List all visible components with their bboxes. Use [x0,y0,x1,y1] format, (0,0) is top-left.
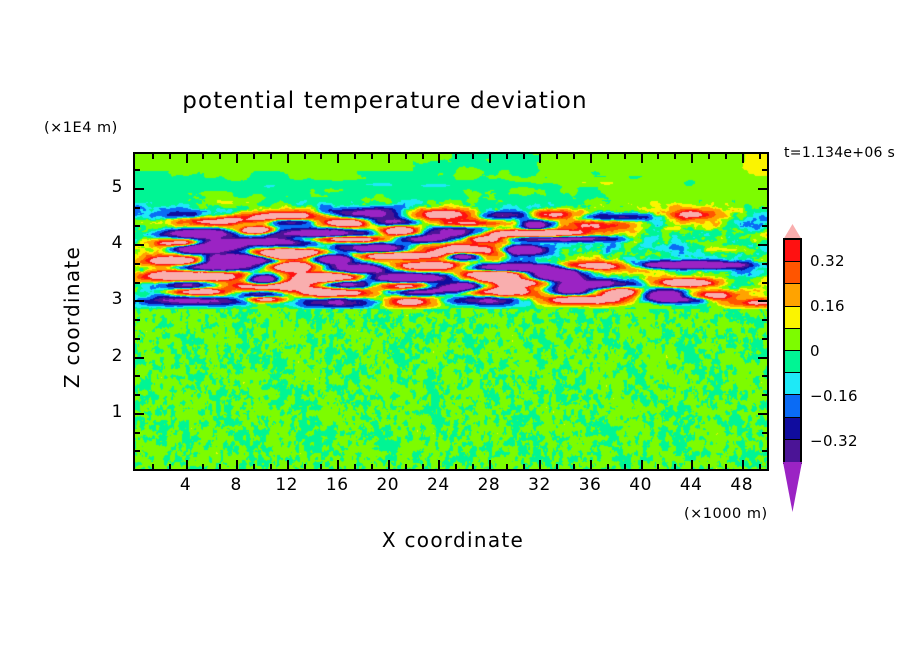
colorbar [783,238,802,464]
x-minor-tick [674,154,676,159]
x-tick-label: 24 [418,475,458,495]
x-tick-label: 40 [621,475,661,495]
x-tick-label: 44 [671,475,711,495]
y-tick-label: 3 [95,289,123,309]
x-minor-tick [556,154,558,159]
y-minor-tick [135,207,140,209]
x-major-tick [489,460,491,469]
colorbar-low-cap [783,462,802,512]
y-minor-tick [135,169,140,171]
x-major-tick [337,460,339,469]
y-tick-label: 4 [95,233,123,253]
x-major-tick [388,460,390,469]
x-major-tick [388,154,390,163]
y-major-tick [135,244,144,246]
y-major-tick [758,413,767,415]
x-major-tick [287,154,289,163]
x-major-tick [539,460,541,469]
y-minor-tick [762,450,767,452]
x-minor-tick [472,154,474,159]
y-tick-label: 2 [95,346,123,366]
x-minor-tick [523,464,525,469]
x-tick-label: 20 [368,475,408,495]
x-minor-tick [422,464,424,469]
y-major-tick [135,357,144,359]
y-major-tick [758,300,767,302]
y-minor-tick [135,225,140,227]
x-major-tick [236,154,238,163]
x-major-tick [691,460,693,469]
x-tick-label: 32 [519,475,559,495]
y-major-tick [135,300,144,302]
y-minor-tick [762,375,767,377]
x-minor-tick [708,464,710,469]
x-minor-tick [708,154,710,159]
x-minor-tick [169,154,171,159]
y-axis-unit-label: (×1E4 m) [44,120,118,136]
x-minor-tick [371,464,373,469]
y-minor-tick [135,375,140,377]
x-minor-tick [759,154,761,159]
x-minor-tick [320,464,322,469]
x-tick-label: 48 [722,475,762,495]
x-minor-tick [320,154,322,159]
x-minor-tick [725,464,727,469]
x-minor-tick [607,464,609,469]
x-minor-tick [304,154,306,159]
x-major-tick [742,460,744,469]
x-minor-tick [759,464,761,469]
y-major-tick [758,244,767,246]
x-major-tick [186,460,188,469]
x-major-tick [641,154,643,163]
y-tick-label: 1 [95,402,123,422]
colorbar-band [785,307,800,329]
colorbar-tick-label: 0.32 [810,252,845,270]
x-axis-unit-label: (×1000 m) [684,506,768,522]
x-minor-tick [270,154,272,159]
x-major-tick [539,154,541,163]
x-major-tick [438,154,440,163]
x-tick-label: 28 [469,475,509,495]
y-minor-tick [135,394,140,396]
x-minor-tick [523,154,525,159]
colorbar-band [785,373,800,395]
x-minor-tick [405,464,407,469]
y-major-tick [758,188,767,190]
y-minor-tick [762,225,767,227]
x-minor-tick [304,464,306,469]
x-minor-tick [725,154,727,159]
colorbar-band [785,395,800,417]
y-minor-tick [762,169,767,171]
x-major-tick [186,154,188,163]
x-minor-tick [152,464,154,469]
y-minor-tick [135,319,140,321]
x-major-tick [742,154,744,163]
x-major-tick [691,154,693,163]
x-major-tick [438,460,440,469]
x-major-tick [641,460,643,469]
y-minor-tick [135,338,140,340]
x-minor-tick [202,464,204,469]
x-minor-tick [556,464,558,469]
x-major-tick [337,154,339,163]
colorbar-band [785,284,800,306]
y-minor-tick [762,207,767,209]
y-minor-tick [762,432,767,434]
x-minor-tick [354,464,356,469]
time-annotation: t=1.134e+06 s [784,145,895,161]
x-tick-label: 4 [166,475,206,495]
x-minor-tick [624,154,626,159]
x-minor-tick [472,464,474,469]
page-title: potential temperature deviation [0,88,770,114]
contour-plot-area [133,152,769,471]
x-minor-tick [253,464,255,469]
x-minor-tick [152,154,154,159]
x-minor-tick [657,464,659,469]
y-minor-tick [135,432,140,434]
colorbar-band [785,240,800,262]
colorbar-band [785,262,800,284]
y-minor-tick [762,394,767,396]
y-minor-tick [762,282,767,284]
x-minor-tick [202,154,204,159]
colorbar-tick-label: 0 [810,342,820,360]
x-major-tick [590,154,592,163]
x-minor-tick [657,154,659,159]
y-minor-tick [135,263,140,265]
x-tick-label: 8 [216,475,256,495]
x-minor-tick [270,464,272,469]
colorbar-tick-label: −0.16 [810,387,858,405]
y-axis-title: Z coordinate [60,197,84,437]
colorbar-band [785,418,800,440]
x-minor-tick [573,464,575,469]
x-minor-tick [253,154,255,159]
x-tick-label: 16 [317,475,357,495]
y-minor-tick [762,338,767,340]
y-tick-label: 5 [95,177,123,197]
x-tick-label: 12 [267,475,307,495]
x-minor-tick [573,154,575,159]
y-minor-tick [135,450,140,452]
x-minor-tick [422,154,424,159]
x-major-tick [287,460,289,469]
y-major-tick [135,188,144,190]
y-major-tick [758,357,767,359]
x-minor-tick [506,464,508,469]
contour-field-canvas [135,154,767,469]
x-minor-tick [371,154,373,159]
x-minor-tick [607,154,609,159]
x-minor-tick [219,154,221,159]
colorbar-tick-label: 0.16 [810,297,845,315]
x-major-tick [236,460,238,469]
x-tick-label: 36 [570,475,610,495]
x-major-tick [590,460,592,469]
x-minor-tick [506,154,508,159]
y-minor-tick [762,263,767,265]
x-minor-tick [405,154,407,159]
x-axis-title: X coordinate [333,528,573,552]
x-minor-tick [219,464,221,469]
x-minor-tick [674,464,676,469]
colorbar-band [785,351,800,373]
x-minor-tick [624,464,626,469]
y-minor-tick [135,282,140,284]
x-minor-tick [455,154,457,159]
colorbar-band [785,329,800,351]
colorbar-band [785,440,800,462]
x-minor-tick [169,464,171,469]
x-minor-tick [455,464,457,469]
figure-root: potential temperature deviation (×1E4 m)… [0,0,904,654]
x-major-tick [489,154,491,163]
y-major-tick [135,413,144,415]
x-minor-tick [354,154,356,159]
colorbar-tick-label: −0.32 [810,432,858,450]
y-minor-tick [762,319,767,321]
